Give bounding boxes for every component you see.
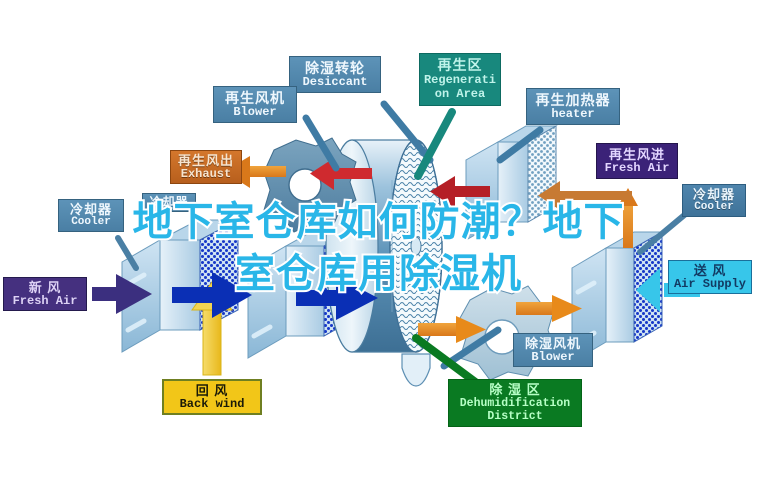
label-regen-blower: 再生风机 Blower xyxy=(213,86,297,123)
label-cooler-right: 冷却器 Cooler xyxy=(682,184,746,217)
label-regen-fresh-air: 再生风进 Fresh Air xyxy=(596,143,678,179)
label-cooler-mid: 冷却器 xyxy=(142,193,196,212)
label-dehumidification-district: 除 湿 区 Dehumidification District xyxy=(448,379,582,427)
label-cooler-left: 冷却器 Cooler xyxy=(58,199,124,232)
label-desiccant-wheel: 除湿转轮 Desiccant xyxy=(289,56,381,93)
arrow-regen-fresh-air xyxy=(538,181,638,248)
label-back-wind: 回 风 Back wind xyxy=(162,379,262,415)
diagram-canvas: 地下室仓库如何防潮？地下 室仓库用除湿机 除湿转轮 Desiccant 再生风机… xyxy=(0,0,757,488)
label-fresh-air-left: 新 风 Fresh Air xyxy=(3,277,87,311)
regeneration-heater xyxy=(466,126,556,240)
label-air-supply: 送 风 Air Supply xyxy=(668,260,752,294)
label-exhaust: 再生风出 Exhaust xyxy=(170,150,242,184)
label-regen-area: 再生区 Regenerati on Area xyxy=(419,53,501,106)
label-regen-heater: 再生加热器 heater xyxy=(526,88,620,125)
label-dehumidify-blower: 除湿风机 Blower xyxy=(513,333,593,367)
